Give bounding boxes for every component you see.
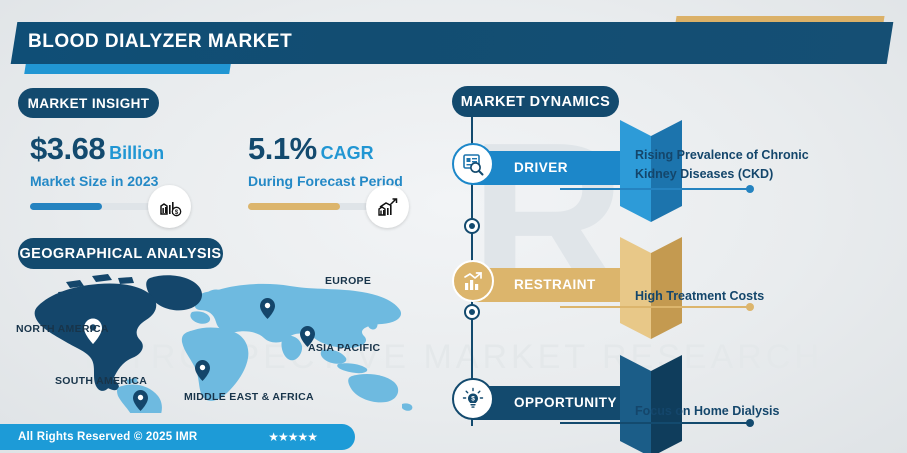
growth-chart-icon [366,185,409,228]
kpi-value: 5.1% [248,131,317,166]
kpi-value-row: $3.68Billion [30,133,172,164]
kpi-progress-track: $ [30,203,172,210]
kpi-progress-track [248,203,390,210]
driver-connector [560,188,750,190]
section-chip-geographical-analysis: GEOGRAPHICAL ANALYSIS [18,238,223,269]
restraint-text: High Treatment Costs [635,287,764,306]
region-label-asia-pacific: ASIA PACIFIC [308,342,380,354]
opportunity-text: Focus on Home Dialysis [635,402,779,421]
section-chip-market-insight: MARKET INSIGHT [18,88,159,118]
kpi-cagr: 5.1%CAGR During Forecast Period [248,133,403,210]
svg-text:$: $ [471,396,475,403]
lightbulb-dollar-icon: $ [452,378,494,420]
kpi-progress-fill [30,203,102,210]
document-magnifier-icon [452,143,494,185]
region-label-europe: EUROPE [325,275,371,287]
page-title: BLOOD DIALYZER MARKET [28,31,292,53]
timeline-node [464,304,480,320]
region-label-north-america: NORTH AMERICA [16,323,109,335]
driver-text-line-1: Rising Prevalence of Chronic [635,146,809,165]
declining-bar-chart-icon [452,260,494,302]
section-chip-market-dynamics: MARKET DYNAMICS [452,86,619,117]
infographic-canvas: R INTROSPECTIVE MARKET RESEARCH BLOOD DI… [0,0,907,453]
section-chip-label: GEOGRAPHICAL ANALYSIS [19,246,221,262]
restraint-text-line-1: High Treatment Costs [635,287,764,306]
restraint-label: RESTRAINT [514,277,596,292]
rating-stars-icon: ★★★★★ [268,430,317,444]
opportunity-connector [560,422,750,424]
section-chip-label: MARKET DYNAMICS [461,94,610,110]
kpi-market-size: $3.68Billion Market Size in 2023 $ [30,133,172,210]
kpi-unit: Billion [109,143,164,163]
bar-chart-dollar-icon: $ [148,185,191,228]
footer-copyright: All Rights Reserved © 2025 IMR [18,431,197,443]
region-label-middle-east-africa: MIDDLE EAST & AFRICA [184,391,314,403]
opportunity-label: OPPORTUNITY [514,395,617,410]
opportunity-text-line-1: Focus on Home Dialysis [635,402,779,421]
kpi-value-row: 5.1%CAGR [248,133,403,164]
section-chip-label: MARKET INSIGHT [28,96,150,111]
kpi-progress-fill [248,203,340,210]
footer-bar: All Rights Reserved © 2025 IMR ★★★★★ [0,424,355,450]
region-label-south-america: SOUTH AMERICA [55,375,147,387]
timeline-node [464,218,480,234]
kpi-value: $3.68 [30,131,105,166]
kpi-unit: CAGR [321,143,374,163]
kpi-subtitle: Market Size in 2023 [30,173,172,189]
driver-label: DRIVER [514,160,568,175]
driver-text-line-2: Kidney Diseases (CKD) [635,165,809,184]
header-blue-accent [24,64,231,74]
driver-text: Rising Prevalence of Chronic Kidney Dise… [635,146,809,185]
